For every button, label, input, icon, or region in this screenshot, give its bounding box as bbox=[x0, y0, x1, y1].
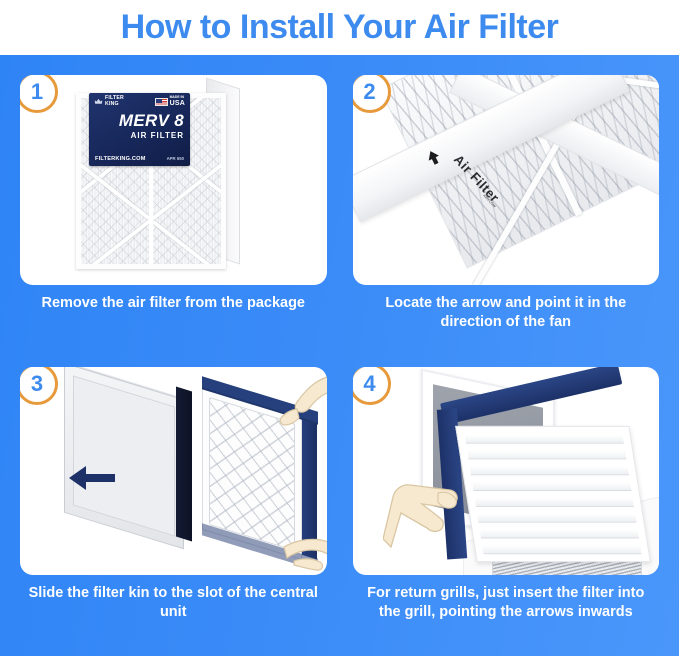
made-in-text: MADE IN bbox=[170, 95, 184, 99]
brand-line-2: KING bbox=[105, 102, 124, 107]
made-in-usa-badge: MADE IN USA bbox=[155, 96, 185, 107]
step-3-image-card: 3 bbox=[20, 367, 327, 575]
made-in-usa-text: MADE IN USA bbox=[170, 96, 185, 107]
step-4-badge: 4 bbox=[353, 367, 391, 405]
merv-rating: MERV 8 bbox=[89, 112, 184, 129]
step-1-caption: Remove the air filter from the package bbox=[12, 294, 335, 313]
page-title: How to Install Your Air Filter bbox=[121, 8, 559, 47]
hand-top-holding-filter-icon bbox=[267, 371, 327, 435]
label-top-row: FILTER KING MADE IN USA bbox=[89, 93, 190, 107]
air-filter-product: FILTER KING MADE IN USA bbox=[76, 85, 272, 275]
brand-text: FILTER KING bbox=[105, 96, 124, 107]
merv-block: MERV 8 AIR FILTER bbox=[89, 107, 190, 140]
step-2-caption: Locate the arrow and point it in the dir… bbox=[345, 294, 668, 332]
slot-inner-recess bbox=[73, 375, 175, 536]
step-2-image-card: 2 bbox=[353, 75, 660, 285]
product-label: FILTER KING MADE IN USA bbox=[89, 93, 190, 166]
insert-direction-arrow-icon bbox=[69, 463, 115, 493]
label-subtitle: AIR FILTER bbox=[89, 131, 184, 140]
step-1-illustration: FILTER KING MADE IN USA bbox=[20, 75, 327, 285]
filter-corner-closeup: Air Filter AIRFLOW bbox=[353, 75, 660, 285]
title-bar: How to Install Your Air Filter bbox=[0, 0, 679, 55]
step-4: 4 bbox=[345, 359, 668, 651]
step-4-caption: For return grills, just insert the filte… bbox=[345, 584, 668, 622]
filter-king-logo: FILTER KING bbox=[94, 96, 124, 107]
label-bottom-row: FILTERKING.COM APR 650 bbox=[89, 156, 190, 162]
step-2: 2 bbox=[345, 67, 668, 359]
step-1: 1 bbox=[12, 67, 335, 359]
step-1-image-card: 1 bbox=[20, 75, 327, 285]
country-text: USA bbox=[170, 100, 185, 108]
step-3-illustration bbox=[20, 367, 327, 575]
step-2-illustration: Air Filter AIRFLOW bbox=[353, 75, 660, 285]
steps-board: 1 bbox=[0, 55, 679, 656]
step-4-illustration bbox=[353, 367, 660, 575]
step-3-caption: Slide the filter kin to the slot of the … bbox=[12, 584, 335, 622]
steps-grid: 1 bbox=[0, 55, 679, 656]
label-apr-rating: APR 650 bbox=[167, 156, 184, 161]
usa-flag-icon bbox=[155, 98, 168, 106]
central-unit-slot bbox=[64, 367, 184, 549]
label-website: FILTERKING.COM bbox=[95, 156, 146, 162]
crown-icon bbox=[94, 97, 103, 106]
step-3: 3 bbox=[12, 359, 335, 651]
step-4-image-card: 4 bbox=[353, 367, 660, 575]
hand-bottom-supporting-filter-icon bbox=[282, 535, 327, 575]
hand-opening-grill-icon bbox=[383, 463, 493, 553]
slot-opening-dark bbox=[176, 386, 192, 541]
